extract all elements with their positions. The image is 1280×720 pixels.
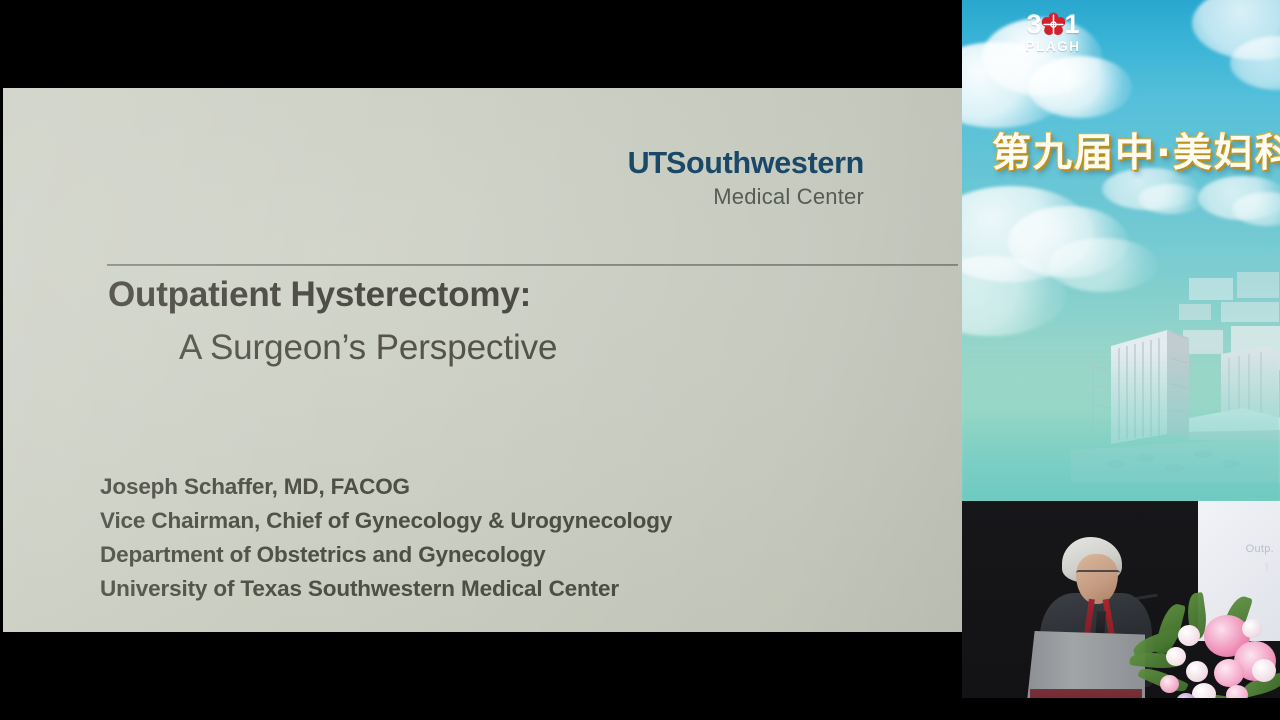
author-line-institution: University of Texas Southwestern Medical… (100, 572, 930, 606)
plagh-digit-3: 3 (1026, 11, 1041, 38)
ut-logo-primary: UTSouthwestern (628, 148, 864, 179)
presentation-slide: UTSouthwestern Medical Center Outpatient… (3, 88, 962, 632)
slide-title-line-1: Outpatient Hysterectomy: (108, 274, 948, 315)
plagh-wordmark: PLAGH (1020, 40, 1086, 54)
cloud-shape (1138, 184, 1204, 214)
ut-logo-secondary: Medical Center (628, 186, 864, 208)
author-line-name: Joseph Schaffer, MD, FACOG (100, 470, 930, 504)
app-root: UTSouthwestern Medical Center Outpatient… (0, 0, 1280, 720)
ut-logo-name: Southwestern (666, 146, 864, 180)
right-column: 3 (962, 0, 1280, 720)
flower-bloom (1186, 661, 1208, 682)
plagh-logo: 3 (1020, 9, 1086, 59)
flower-bloom (1252, 659, 1276, 682)
flower-bloom (1214, 659, 1244, 687)
video-bottom-gutter (962, 698, 1280, 720)
projection-screen-subtitle: ▏ (1267, 563, 1272, 571)
plagh-flower-emblem-icon (1041, 12, 1066, 37)
cloud-shape (1232, 192, 1280, 226)
ut-southwestern-logo: UTSouthwestern Medical Center (628, 148, 864, 208)
slide-author-block: Joseph Schaffer, MD, FACOG Vice Chairman… (100, 470, 930, 606)
slide-title-block: Outpatient Hysterectomy: A Surgeon’s Per… (108, 274, 948, 369)
slide-title-line-2: A Surgeon’s Perspective (108, 327, 948, 369)
letterbox-bottom (0, 632, 962, 720)
slide-viewer[interactable]: UTSouthwestern Medical Center Outpatient… (0, 0, 962, 720)
conference-banner: 3 (962, 0, 1280, 501)
letterbox-top (0, 0, 962, 88)
conference-headline: 第九届中·美妇科 (992, 133, 1280, 176)
flower-bloom (1178, 625, 1200, 646)
flower-bloom (1166, 647, 1186, 666)
plagh-digit-1: 1 (1065, 11, 1080, 38)
ut-logo-abbreviation: UT (628, 146, 666, 180)
author-line-role: Vice Chairman, Chief of Gynecology & Uro… (100, 504, 930, 538)
water-haze-overlay (962, 351, 1280, 501)
author-line-department: Department of Obstetrics and Gynecology (100, 538, 930, 572)
projection-screen-title: Outp. (1246, 543, 1274, 555)
cloud-shape (1028, 56, 1132, 118)
flower-bloom (1160, 675, 1179, 693)
live-video-panel[interactable]: Outp. ▏ (962, 501, 1280, 720)
plagh-logo-mark: 3 (1020, 9, 1086, 39)
slide-divider-rule (107, 264, 958, 266)
flower-bloom (1242, 619, 1262, 638)
speaker-glasses (1076, 570, 1120, 580)
